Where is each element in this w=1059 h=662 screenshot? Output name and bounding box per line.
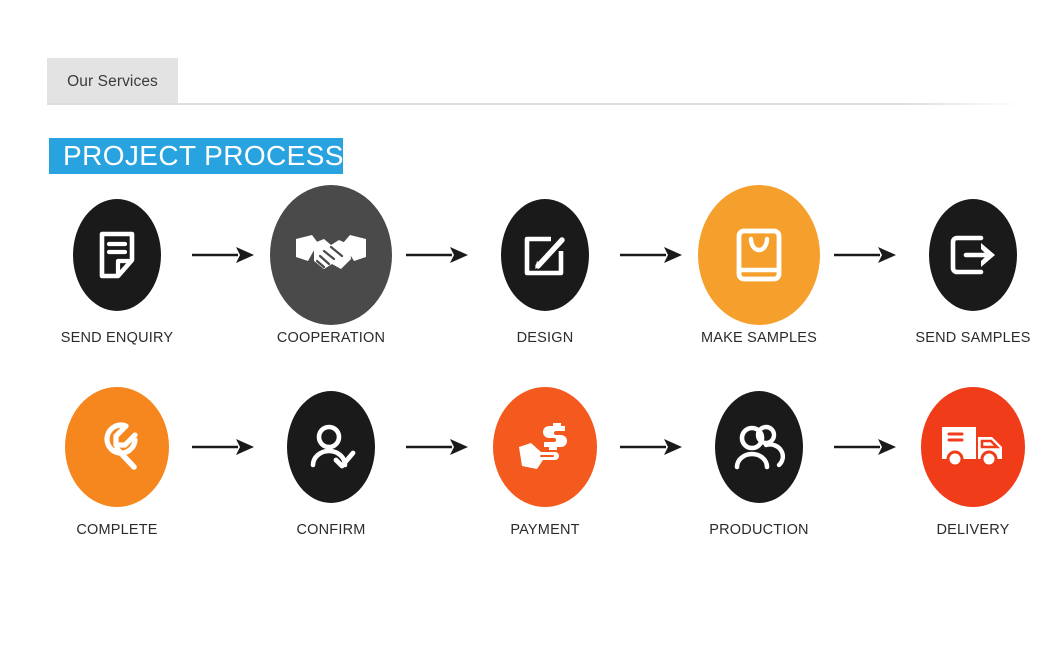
process-row-1: SEND ENQUIRY xyxy=(47,185,1015,346)
step-bubble xyxy=(287,391,375,503)
process-step-make-samples[interactable]: MAKE SAMPLES xyxy=(689,185,829,346)
handshake-icon xyxy=(294,229,368,281)
tab-label: Our Services xyxy=(67,74,158,90)
bubble-wrap xyxy=(698,185,820,325)
step-label: COMPLETE xyxy=(76,523,157,538)
wrench-icon xyxy=(89,419,145,475)
step-bubble xyxy=(493,387,597,507)
process-step-design[interactable]: DESIGN xyxy=(475,185,615,346)
process-step-send-enquiry[interactable]: SEND ENQUIRY xyxy=(47,185,187,346)
section-banner: PROJECT PROCESS xyxy=(49,138,343,174)
process-arrow xyxy=(829,185,903,325)
step-bubble xyxy=(929,199,1017,311)
step-bubble xyxy=(715,391,803,503)
process-step-production[interactable]: PRODUCTION xyxy=(689,377,829,538)
bubble-wrap xyxy=(929,185,1017,325)
section-title: PROJECT PROCESS xyxy=(49,142,344,170)
hand-money-icon xyxy=(515,421,575,473)
step-label: COOPERATION xyxy=(277,331,385,346)
bubble-wrap xyxy=(493,377,597,517)
project-process-section: PROJECT PROCESS SEND ENQUIRY xyxy=(0,105,1059,662)
shopping-bag-icon xyxy=(734,226,784,284)
step-label: DESIGN xyxy=(517,331,574,346)
bubble-wrap xyxy=(715,377,803,517)
edit-square-icon xyxy=(521,231,569,279)
process-arrow xyxy=(615,377,689,517)
users-group-icon xyxy=(733,423,785,471)
user-check-icon xyxy=(306,422,356,472)
process-arrow xyxy=(401,185,475,325)
bubble-wrap xyxy=(270,185,392,325)
step-bubble xyxy=(698,185,820,325)
step-bubble xyxy=(921,387,1025,507)
bubble-wrap xyxy=(921,377,1025,517)
export-arrow-icon xyxy=(948,232,998,278)
step-bubble xyxy=(65,387,169,507)
process-step-send-samples[interactable]: SEND SAMPLES xyxy=(903,185,1043,346)
step-label: SEND SAMPLES xyxy=(915,331,1030,346)
process-arrow xyxy=(187,185,261,325)
step-bubble xyxy=(501,199,589,311)
step-bubble xyxy=(73,199,161,311)
process-row-2: COMPLETE CONFIR xyxy=(47,377,1015,538)
process-step-delivery[interactable]: DELIVERY xyxy=(903,377,1043,538)
bubble-wrap xyxy=(73,185,161,325)
delivery-truck-icon xyxy=(940,423,1006,471)
step-label: MAKE SAMPLES xyxy=(701,331,817,346)
process-step-confirm[interactable]: CONFIRM xyxy=(261,377,401,538)
step-label: PRODUCTION xyxy=(709,523,808,538)
header-tabstrip: Our Services xyxy=(0,0,1059,105)
bubble-wrap xyxy=(65,377,169,517)
process-step-complete[interactable]: COMPLETE xyxy=(47,377,187,538)
tab-our-services[interactable]: Our Services xyxy=(47,58,178,105)
process-step-cooperation[interactable]: COOPERATION xyxy=(261,185,401,346)
process-arrow xyxy=(829,377,903,517)
process-arrow xyxy=(401,377,475,517)
step-label: CONFIRM xyxy=(296,523,365,538)
process-arrow xyxy=(615,185,689,325)
document-icon xyxy=(94,230,140,280)
process-step-payment[interactable]: PAYMENT xyxy=(475,377,615,538)
step-label: PAYMENT xyxy=(510,523,579,538)
step-label: SEND ENQUIRY xyxy=(61,331,174,346)
bubble-wrap xyxy=(501,185,589,325)
process-arrow xyxy=(187,377,261,517)
step-label: DELIVERY xyxy=(936,523,1009,538)
bubble-wrap xyxy=(287,377,375,517)
step-bubble xyxy=(270,185,392,325)
